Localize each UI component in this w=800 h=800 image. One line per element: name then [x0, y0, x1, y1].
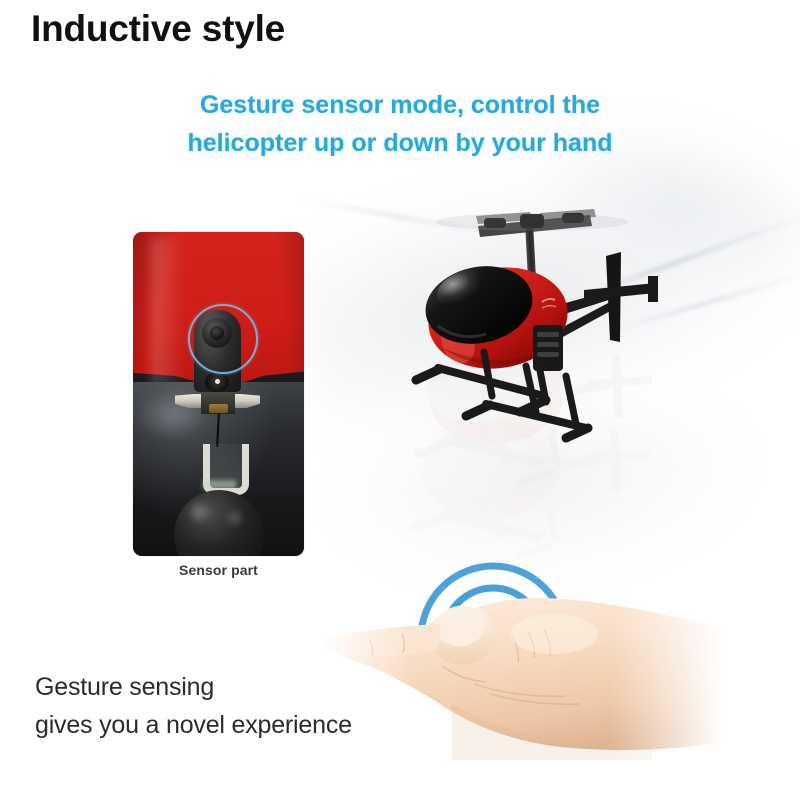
- left-edge-fade: [322, 592, 722, 760]
- product-feature-image: Inductive style Gesture sensor mode, con…: [0, 0, 800, 800]
- subtitle-line-1: Gesture sensor mode, control the: [90, 86, 710, 124]
- metal-clip-glow: [203, 480, 236, 489]
- base-disc-sheen: [225, 508, 245, 528]
- subtitle-line-2: helicopter up or down by your hand: [90, 124, 710, 162]
- shell-highlight: [151, 238, 185, 388]
- base-disc-sheen: [187, 500, 211, 524]
- inset-caption: Sensor part: [133, 562, 304, 578]
- subtitle: Gesture sensor mode, control the helicop…: [90, 86, 710, 162]
- sensor-led-dot: [215, 379, 220, 384]
- sensor-part-inset-photo: [133, 232, 304, 556]
- footnote: Gesture sensing gives you a novel experi…: [35, 668, 352, 744]
- open-palm-hand-icon: [322, 592, 722, 760]
- page-title: Inductive style: [31, 8, 285, 50]
- helicopter-icon: [380, 190, 680, 460]
- footnote-line-1: Gesture sensing: [35, 668, 352, 706]
- footnote-line-2: gives you a novel experience: [35, 706, 352, 744]
- brass-contact: [209, 404, 228, 413]
- highlight-ring-icon: [188, 304, 258, 374]
